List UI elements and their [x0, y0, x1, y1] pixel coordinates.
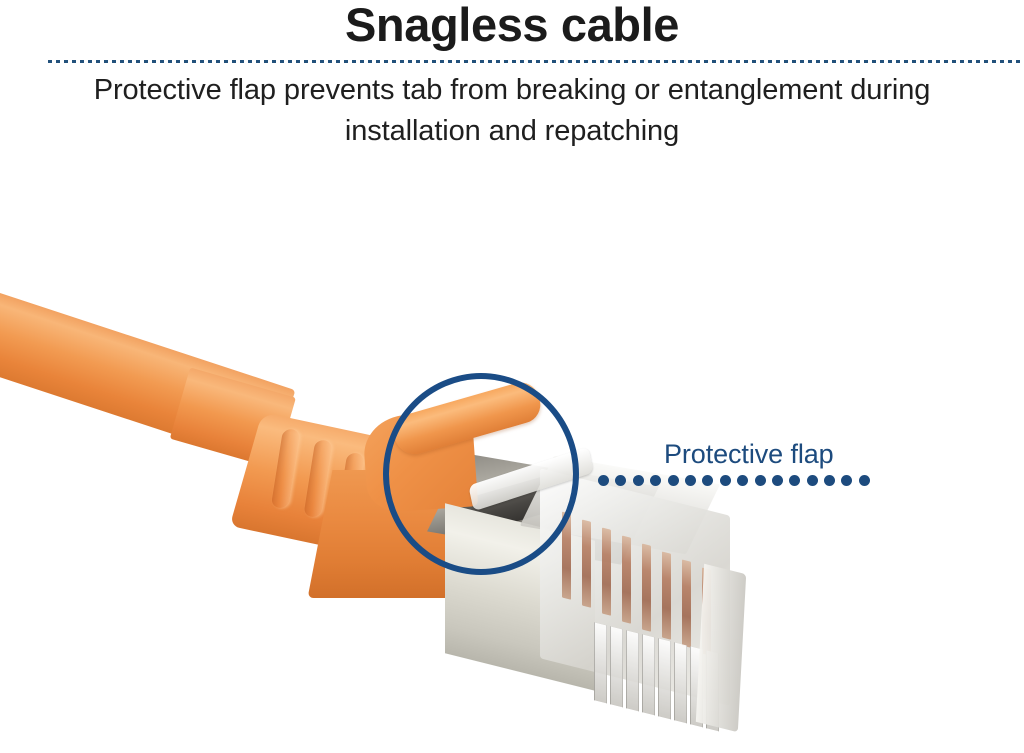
leader-dot [615, 475, 626, 486]
callout-circle [383, 373, 579, 575]
leader-dot [772, 475, 783, 486]
rj45-contact-blade [682, 559, 691, 647]
rj45-front-tooth [658, 638, 671, 719]
leader-dot [720, 475, 731, 486]
rj45-contact-blade [582, 520, 591, 608]
rj45-front-tooth [610, 626, 623, 707]
rj45-contact-blade [602, 528, 611, 616]
product-feature-graphic: Snagless cable Protective flap prevents … [0, 0, 1024, 753]
page-subtitle: Protective flap prevents tab from breaki… [38, 70, 986, 152]
rj45-contact-blade [622, 536, 631, 624]
leader-dot [650, 475, 661, 486]
leader-dot [807, 475, 818, 486]
rj45-front-tooth [642, 634, 655, 715]
rj45-contact-blade [662, 551, 671, 639]
callout-leader-dots [598, 473, 870, 487]
leader-dot [668, 475, 679, 486]
page-title: Snagless cable [0, 0, 1024, 52]
leader-dot [841, 475, 852, 486]
rj45-front-tooth [626, 630, 639, 711]
leader-dot [737, 475, 748, 486]
rj45-plug-side-face [696, 564, 746, 732]
leader-dot [598, 475, 609, 486]
rj45-front-tooth [594, 622, 607, 703]
leader-dot [859, 475, 870, 486]
leader-dot [824, 475, 835, 486]
rj45-contact-blade [642, 544, 651, 632]
leader-dot [633, 475, 644, 486]
rj45-front-tooth [674, 642, 687, 723]
leader-dot [789, 475, 800, 486]
leader-dot [755, 475, 766, 486]
callout-label: Protective flap [664, 438, 834, 470]
boot-rib [271, 429, 300, 509]
product-photo: Protective flap [0, 170, 1024, 753]
leader-dot [702, 475, 713, 486]
header-divider [48, 60, 1020, 63]
header: Snagless cable Protective flap prevents … [0, 0, 1024, 170]
leader-dot [685, 475, 696, 486]
